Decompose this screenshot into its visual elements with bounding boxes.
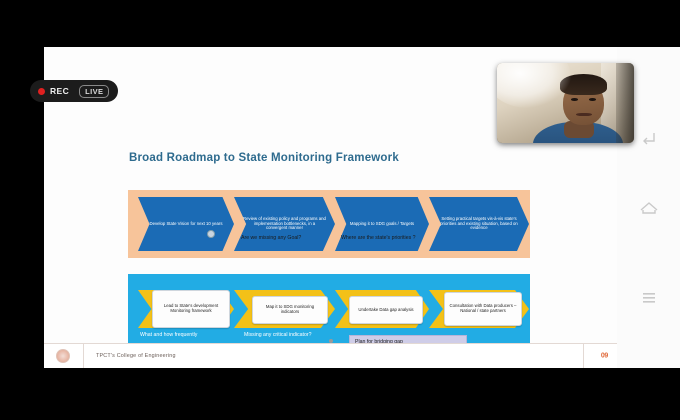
roadmap-step-6-label: Map it to SDG monitoring indicators xyxy=(253,305,327,315)
roadmap-question-1: Are we missing any Goal? xyxy=(241,235,326,242)
live-pill: LIVE xyxy=(79,85,109,98)
recording-status-badge: REC LIVE xyxy=(30,80,118,102)
roadmap-step-1[interactable]: Develop State Vision for next 10 years xyxy=(138,197,234,251)
webcam-vignette xyxy=(616,63,634,143)
roadmap-step-8-callout[interactable]: Consultation with Data producers – Natio… xyxy=(444,292,522,326)
roadmap-step-1-label: Develop State Vision for next 10 years xyxy=(140,222,231,227)
roadmap-step-2[interactable]: Review of existing policy and programs a… xyxy=(234,197,335,251)
recording-label: REC xyxy=(50,86,69,96)
webcam-self-view[interactable] xyxy=(497,63,634,143)
webcam-person-eye-right xyxy=(589,98,596,101)
webcam-person-eye-left xyxy=(571,98,578,101)
roadmap-step-5-callout[interactable]: Lead to State's development Monitoring f… xyxy=(152,290,230,328)
roadmap-step-2-label: Review of existing policy and programs a… xyxy=(234,217,335,231)
roadmap-step-4-label: Setting practical targets vis-à-vis stat… xyxy=(429,217,529,231)
letterbox-top xyxy=(0,0,680,47)
webcam-person-mouth xyxy=(576,113,591,117)
roadmap-step-6-callout[interactable]: Map it to SDG monitoring indicators xyxy=(252,296,328,324)
recording-dot-icon xyxy=(38,88,45,95)
institution-logo-icon xyxy=(56,349,70,363)
roadmap-step-3[interactable]: Mapping it to SDG goals / Targets xyxy=(335,197,429,251)
letterbox-left xyxy=(0,0,44,420)
letterbox-bottom xyxy=(0,368,680,420)
page-number: 09 xyxy=(601,353,608,360)
touch-cursor-indicator xyxy=(207,230,215,238)
roadmap-step-4[interactable]: Setting practical targets vis-à-vis stat… xyxy=(429,197,529,251)
footer-divider xyxy=(83,344,84,368)
footer-divider-right xyxy=(583,344,584,368)
roadmap-step-7-label: Undertake Data gap analysis xyxy=(354,308,417,313)
institution-name: TPCT's College of Engineering xyxy=(96,353,176,359)
roadmap-step-8-label: Consultation with Data producers – Natio… xyxy=(445,304,521,314)
roadmap-step-7-callout[interactable]: Undertake Data gap analysis xyxy=(349,296,423,324)
device-screen: Broad Roadmap to State Monitoring Framew… xyxy=(0,0,680,420)
roadmap-step-3-label: Mapping it to SDG goals / Targets xyxy=(341,222,423,227)
roadmap-step-5-label: Lead to State's development Monitoring f… xyxy=(153,304,229,314)
home-icon[interactable] xyxy=(638,197,660,219)
back-arrow-icon[interactable] xyxy=(638,127,660,149)
roadmap-note-1: What and how frequently xyxy=(140,332,220,339)
live-label: LIVE xyxy=(85,87,103,96)
slide-title: Broad Roadmap to State Monitoring Framew… xyxy=(129,152,399,164)
roadmap-note-2: Missing any critical indicator? xyxy=(244,332,324,339)
slide-footer: TPCT's College of Engineering 09 xyxy=(44,343,617,368)
roadmap-question-2: Where are the state's priorities ? xyxy=(341,235,426,242)
recents-menu-icon[interactable] xyxy=(638,287,660,309)
